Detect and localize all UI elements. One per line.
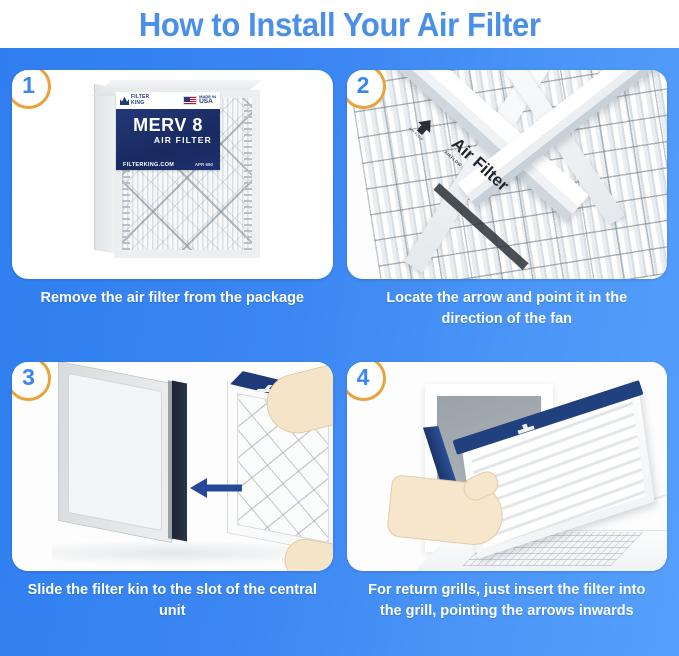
step-4-number: 4 (357, 366, 370, 389)
filter-product-label: FILTER KING MADE IN USA (116, 92, 220, 170)
step-3-image (12, 362, 333, 571)
slide-filter-illustration (12, 362, 333, 571)
poster-header: How to Install Your Air Filter (0, 0, 679, 48)
step-3-card: 3 (12, 362, 333, 571)
steps-grid: FILTER KING MADE IN USA (0, 48, 679, 656)
label-header-row: FILTER KING MADE IN USA (116, 92, 220, 109)
brand-line-2: KING (131, 100, 144, 106)
filter-pleat-comb-right (244, 104, 253, 258)
step-3-number: 3 (22, 366, 35, 389)
made-in-usa-badge: MADE IN USA (183, 95, 216, 106)
step-1-number: 1 (22, 74, 35, 97)
apr-rating-text: APR 650 (195, 162, 213, 167)
step-2-caption: Locate the arrow and point it in the dir… (347, 288, 668, 329)
air-filter-subtitle: AIR FILTER (124, 135, 212, 145)
step-4-caption: For return grills, just insert the filte… (347, 580, 668, 621)
filter-king-logo: FILTER KING (120, 95, 149, 105)
step-1-image: FILTER KING MADE IN USA (12, 70, 333, 279)
label-footer-row: FILTERKING.COM APR 650 (116, 162, 220, 168)
website-text: FILTERKING.COM (123, 162, 174, 168)
step-2: AIR FLOW Air Filter AIRFLOW 2 Locate the… (347, 70, 668, 356)
label-navy-body: MERV 8 AIR FILTER FILTERKING.COM APR 650 (116, 109, 220, 170)
step-2-number: 2 (357, 74, 370, 97)
step-2-card: AIR FLOW Air Filter AIRFLOW 2 (347, 70, 668, 279)
step-4-image (347, 362, 668, 571)
return-grill-illustration (347, 362, 668, 571)
step-4-card: 4 (347, 362, 668, 571)
direction-arrow-icon (190, 477, 242, 499)
infographic-poster: How to Install Your Air Filter (0, 0, 679, 656)
step-3: 3 Slide the filter kin to the slot of th… (12, 362, 333, 648)
central-unit-slot (58, 362, 172, 543)
usa-flag-icon (183, 96, 197, 105)
made-in-usa-text: MADE IN USA (199, 95, 216, 106)
page-title: How to Install Your Air Filter (139, 8, 541, 41)
step-2-image: AIR FLOW Air Filter AIRFLOW (347, 70, 668, 279)
air-filter-product-photo: FILTER KING MADE IN USA (94, 86, 262, 262)
unit-slot-opening (172, 381, 187, 542)
step-1-card: FILTER KING MADE IN USA (12, 70, 333, 279)
step-4: 4 For return grills, just insert the fil… (347, 362, 668, 648)
merv-rating-text: MERV 8 (124, 116, 212, 134)
step-1: FILTER KING MADE IN USA (12, 70, 333, 356)
step-1-caption: Remove the air filter from the package (12, 288, 333, 309)
origin-country-text: USA (199, 99, 216, 106)
crown-icon (120, 96, 129, 105)
step-3-caption: Slide the filter kin to the slot of the … (12, 580, 333, 621)
brand-name: FILTER KING (131, 95, 149, 105)
filter-corner-closeup-photo: AIR FLOW Air Filter AIRFLOW (347, 70, 668, 279)
